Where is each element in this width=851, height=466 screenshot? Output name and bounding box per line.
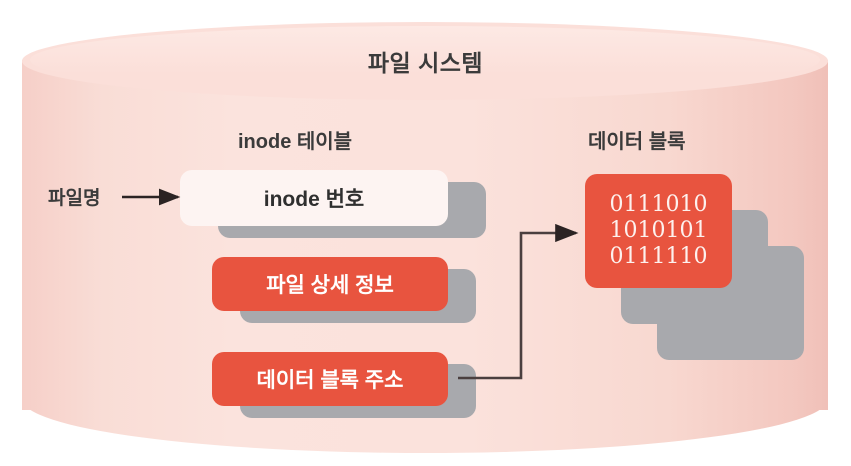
data-block-heading: 데이터 블록 [588, 125, 686, 154]
page-title: 파일 시스템 [0, 44, 851, 78]
inode-row-label: 데이터 블록 주소 [257, 364, 404, 394]
binary-line: 1010101 [610, 218, 708, 244]
data-block-card-front[interactable]: 0111010 1010101 0111110 [585, 174, 732, 288]
filename-label: 파일명 [48, 183, 100, 210]
inode-row-file-detail[interactable]: 파일 상세 정보 [212, 257, 448, 311]
inode-row-inode-number[interactable]: inode 번호 [180, 170, 448, 226]
inode-table-heading: inode 테이블 [238, 125, 352, 154]
diagram-canvas: 파일 시스템 inode 테이블 데이터 블록 파일명 inode 번호 파일 … [0, 0, 851, 466]
binary-line: 0111110 [610, 244, 708, 270]
inode-row-label: 파일 상세 정보 [266, 269, 394, 299]
inode-row-label: inode 번호 [264, 183, 364, 213]
inode-row-data-block-address[interactable]: 데이터 블록 주소 [212, 352, 448, 406]
binary-line: 0111010 [610, 192, 708, 218]
